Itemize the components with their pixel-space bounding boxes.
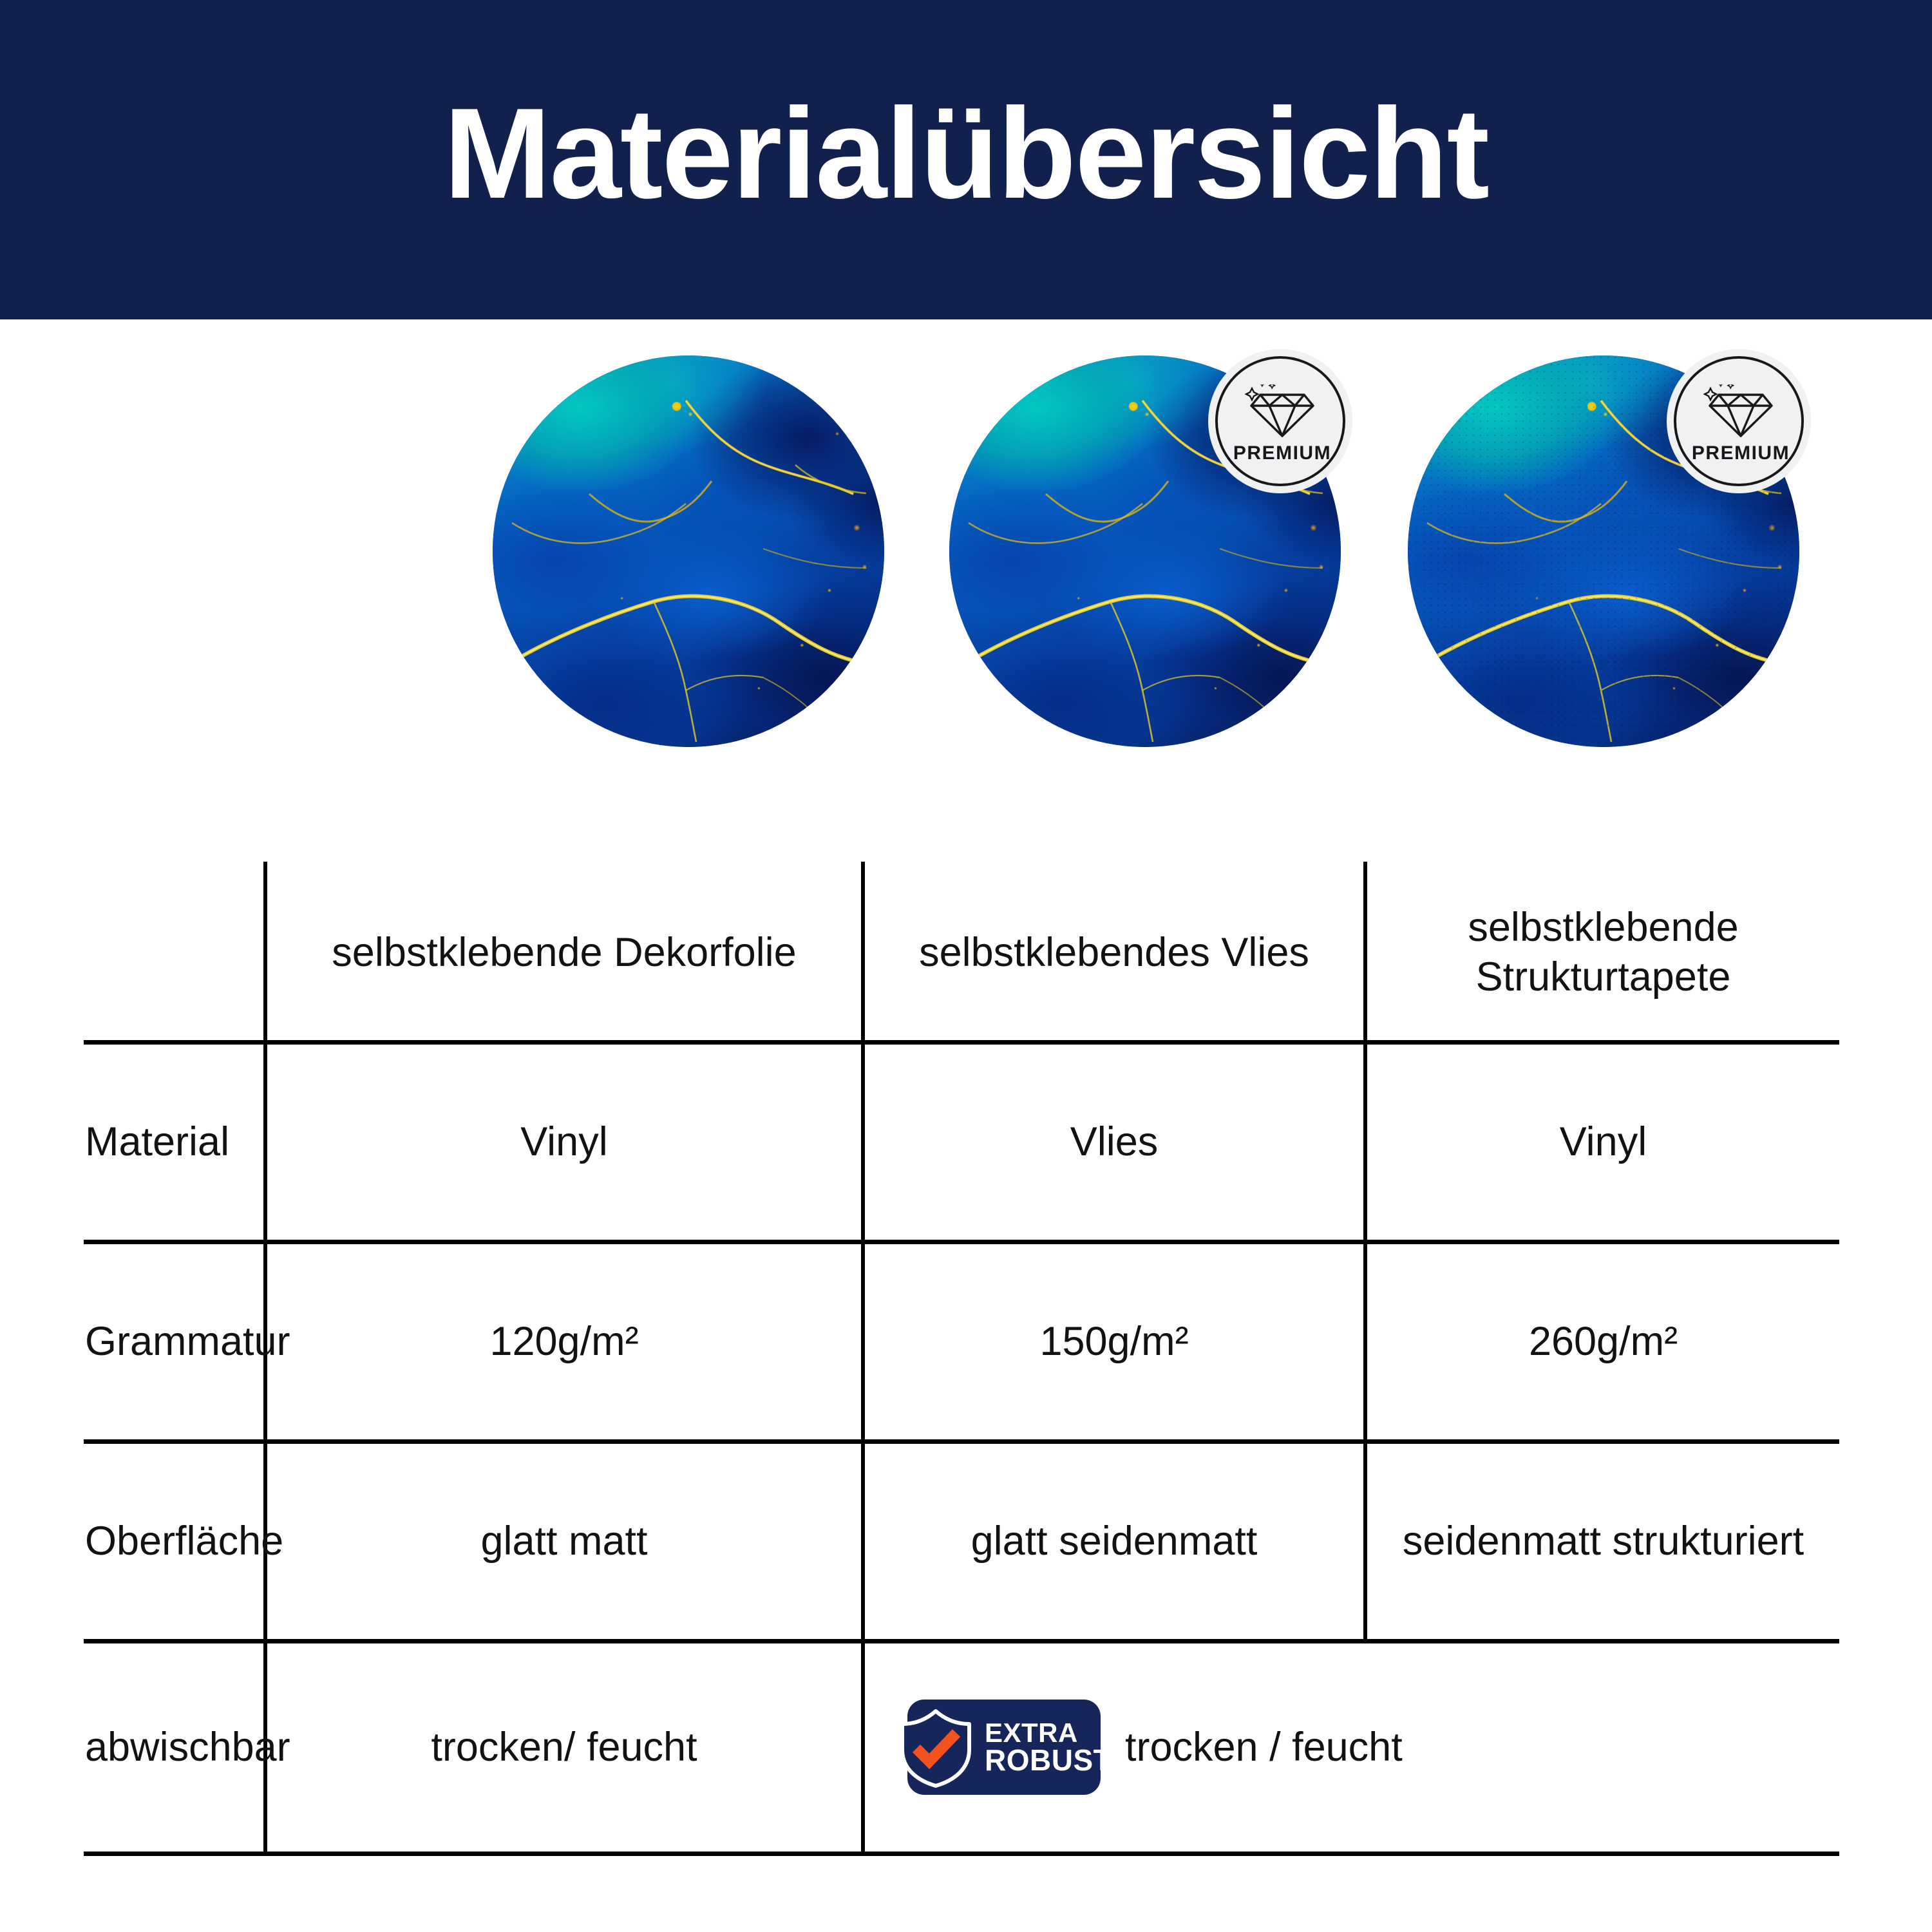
- cell-oberflaeche-strukturtapete: seidenmatt strukturiert: [1365, 1441, 1839, 1641]
- row-label-oberflaeche: Oberfläche: [84, 1441, 265, 1641]
- table-row: abwischbar trocken/ feucht: [84, 1641, 1839, 1853]
- extra-robust-badge: EXTRA ROBUST: [907, 1700, 1101, 1795]
- cell-material-dekorfolie: Vinyl: [265, 1042, 863, 1242]
- product-swatch-dekorfolie[interactable]: [493, 355, 884, 747]
- table-row: Oberfläche glatt matt glatt seidenmatt s…: [84, 1441, 1839, 1641]
- cell-oberflaeche-dekorfolie: glatt matt: [265, 1441, 863, 1641]
- premium-badge-label: PREMIUM: [1233, 442, 1331, 464]
- cell-abwischbar-dekorfolie: trocken/ feucht: [265, 1641, 863, 1853]
- table-row: Material Vinyl Vlies Vinyl: [84, 1042, 1839, 1242]
- row-label-material: Material: [84, 1042, 265, 1242]
- column-header-vlies: selbstklebendes Vlies: [863, 862, 1365, 1042]
- diamond-icon: [1244, 384, 1321, 439]
- column-header-strukturtapete: selbstklebende Strukturtapete: [1365, 862, 1839, 1042]
- table-corner-cell: [84, 862, 265, 1042]
- cell-abwischbar-merged: EXTRA ROBUST trocken / feucht: [863, 1641, 1839, 1853]
- row-label-grammatur: Grammatur: [84, 1242, 265, 1441]
- robust-line-2: ROBUST: [985, 1746, 1112, 1774]
- header-bar: Materialübersicht: [0, 0, 1932, 319]
- cell-oberflaeche-vlies: glatt seidenmatt: [863, 1441, 1365, 1641]
- cell-grammatur-strukturtapete: 260g/m²: [1365, 1242, 1839, 1441]
- cell-abwischbar-merged-text: trocken / feucht: [1125, 1723, 1403, 1772]
- extra-robust-label: EXTRA ROBUST: [985, 1720, 1112, 1774]
- cell-grammatur-vlies: 150g/m²: [863, 1242, 1365, 1441]
- page-title: Materialübersicht: [444, 90, 1488, 230]
- robust-line-1: EXTRA: [985, 1720, 1112, 1746]
- premium-badge-label: PREMIUM: [1692, 442, 1790, 464]
- product-swatch-strukturtapete[interactable]: PREMIUM: [1408, 355, 1799, 747]
- product-swatch-row: PREMIUM: [0, 355, 1932, 755]
- table-header-row: selbstklebende Dekorfolie selbstklebende…: [84, 862, 1839, 1042]
- diamond-icon: [1702, 384, 1779, 439]
- row-label-abwischbar: abwischbar: [84, 1641, 265, 1853]
- cell-grammatur-dekorfolie: 120g/m²: [265, 1242, 863, 1441]
- column-header-dekorfolie: selbstklebende Dekorfolie: [265, 862, 863, 1042]
- premium-badge: PREMIUM: [1208, 349, 1352, 493]
- swatch-image-0: [493, 355, 884, 747]
- table-row: Grammatur 120g/m² 150g/m² 260g/m²: [84, 1242, 1839, 1441]
- cell-material-vlies: Vlies: [863, 1042, 1365, 1242]
- cell-material-strukturtapete: Vinyl: [1365, 1042, 1839, 1242]
- product-swatch-vlies[interactable]: PREMIUM: [949, 355, 1341, 747]
- material-spec-table: selbstklebende Dekorfolie selbstklebende…: [84, 862, 1839, 1856]
- premium-badge: PREMIUM: [1667, 349, 1811, 493]
- shield-check-icon: [893, 1705, 978, 1790]
